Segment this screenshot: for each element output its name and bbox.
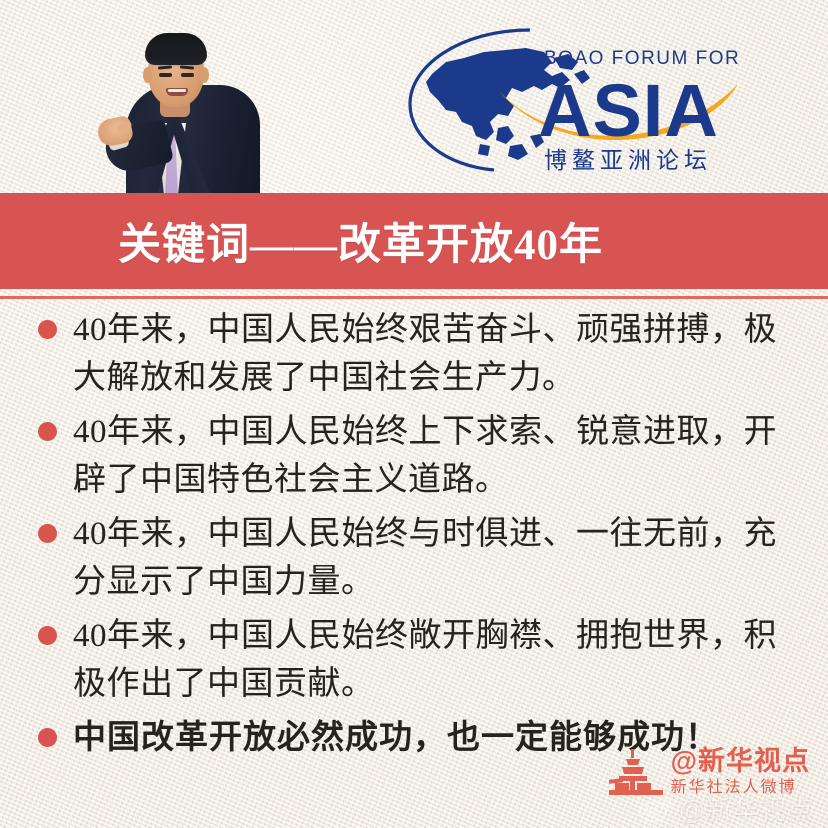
xinhua-wordmark: @新华视点 新华社法人微博 [671,748,810,796]
list-item: 40年来，中国人民始终敞开胸襟、拥抱世界，积极作出了中国贡献。 [0,612,828,708]
poster-root: BOAO FORUM FOR ASIA 博鳌亚洲论坛 关键词——改革开放40年 … [0,0,828,828]
weibo-watermark: @新华视点 [639,790,814,827]
bullet-dot-icon [38,626,57,645]
title-banner: 关键词——改革开放40年 [0,193,828,289]
bullet-dot-icon [38,728,57,747]
portrait-eye-right [181,73,194,77]
xinhua-tower-icon [609,749,663,795]
portrait-hair [145,33,207,65]
portrait-ear-left [143,67,152,83]
weibo-handle: @新华视点 [679,790,814,827]
key-points-list: 40年来，中国人民始终艰苦奋斗、顽强拼搏，极大解放和发展了中国社会生产力。 40… [0,306,828,768]
list-item: 40年来，中国人民始终艰苦奋斗、顽强拼搏，极大解放和发展了中国社会生产力。 [0,306,828,402]
weibo-eye-icon [639,795,673,823]
header-section: BOAO FORUM FOR ASIA 博鳌亚洲论坛 [0,0,828,193]
xinhua-watermark: @新华视点 新华社法人微博 [609,748,810,796]
portrait-mouth [166,88,188,96]
bullet-dot-icon [38,320,57,339]
boao-forum-for-asia-logo: BOAO FORUM FOR ASIA 博鳌亚洲论坛 [402,18,742,178]
svg-text:博鳌亚洲论坛: 博鳌亚洲论坛 [544,148,712,173]
svg-text:ASIA: ASIA [538,69,719,152]
list-item: 40年来，中国人民始终与时俱进、一往无前，充分显示了中国力量。 [0,510,828,606]
list-item-text: 40年来，中国人民始终与时俱进、一往无前，充分显示了中国力量。 [73,510,802,606]
page-title: 关键词——改革开放40年 [118,210,603,272]
bullet-dot-icon [38,524,57,543]
bullet-dot-icon [38,422,57,441]
list-item-text: 40年来，中国人民始终上下求索、锐意进取，开辟了中国特色社会主义道路。 [73,408,802,504]
banner-underline-rule [0,296,828,299]
portrait-eye-left [159,73,172,77]
list-item-text: 40年来，中国人民始终敞开胸襟、拥抱世界，积极作出了中国贡献。 [73,612,802,708]
list-item: 40年来，中国人民始终上下求索、锐意进取，开辟了中国特色社会主义道路。 [0,408,828,504]
list-item-text: 40年来，中国人民始终艰苦奋斗、顽强拼搏，极大解放和发展了中国社会生产力。 [73,306,802,402]
portrait-ear-right [200,67,209,83]
speaker-portrait [100,0,280,193]
svg-text:BOAO FORUM FOR: BOAO FORUM FOR [544,48,740,69]
xinhua-handle: @新华视点 [671,748,810,775]
